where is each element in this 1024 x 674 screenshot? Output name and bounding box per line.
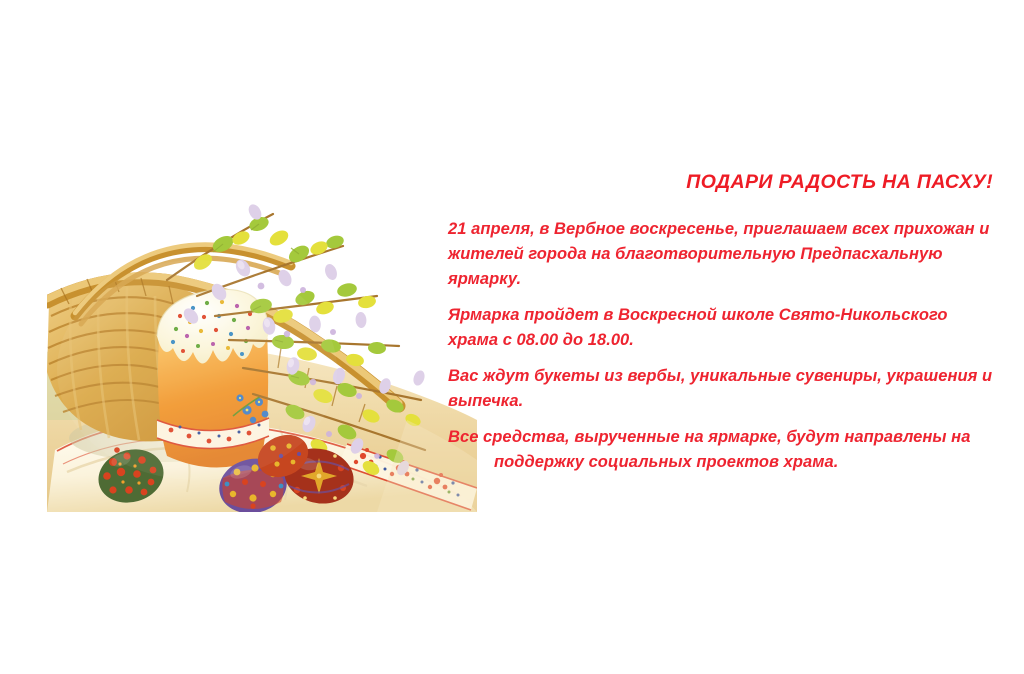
- easter-basket-watercolor-svg: [47, 120, 477, 512]
- poster-canvas: ПОДАРИ РАДОСТЬ НА ПАСХУ! 21 апреля, в Ве…: [0, 0, 1024, 674]
- poster-paragraph-2: Ярмарка пройдет в Воскресной школе Свято…: [448, 303, 993, 353]
- easter-basket-illustration: [47, 120, 477, 512]
- poster-paragraph-4: Все средства, вырученные на ярмарке, буд…: [448, 425, 993, 475]
- poster-headline: ПОДАРИ РАДОСТЬ НА ПАСХУ!: [448, 172, 993, 193]
- poster-text-column: ПОДАРИ РАДОСТЬ НА ПАСХУ! 21 апреля, в Ве…: [448, 172, 993, 475]
- poster-paragraph-3: Вас ждут букеты из вербы, уникальные сув…: [448, 364, 993, 414]
- poster-paragraph-1: 21 апреля, в Вербное воскресенье, пригла…: [448, 217, 993, 292]
